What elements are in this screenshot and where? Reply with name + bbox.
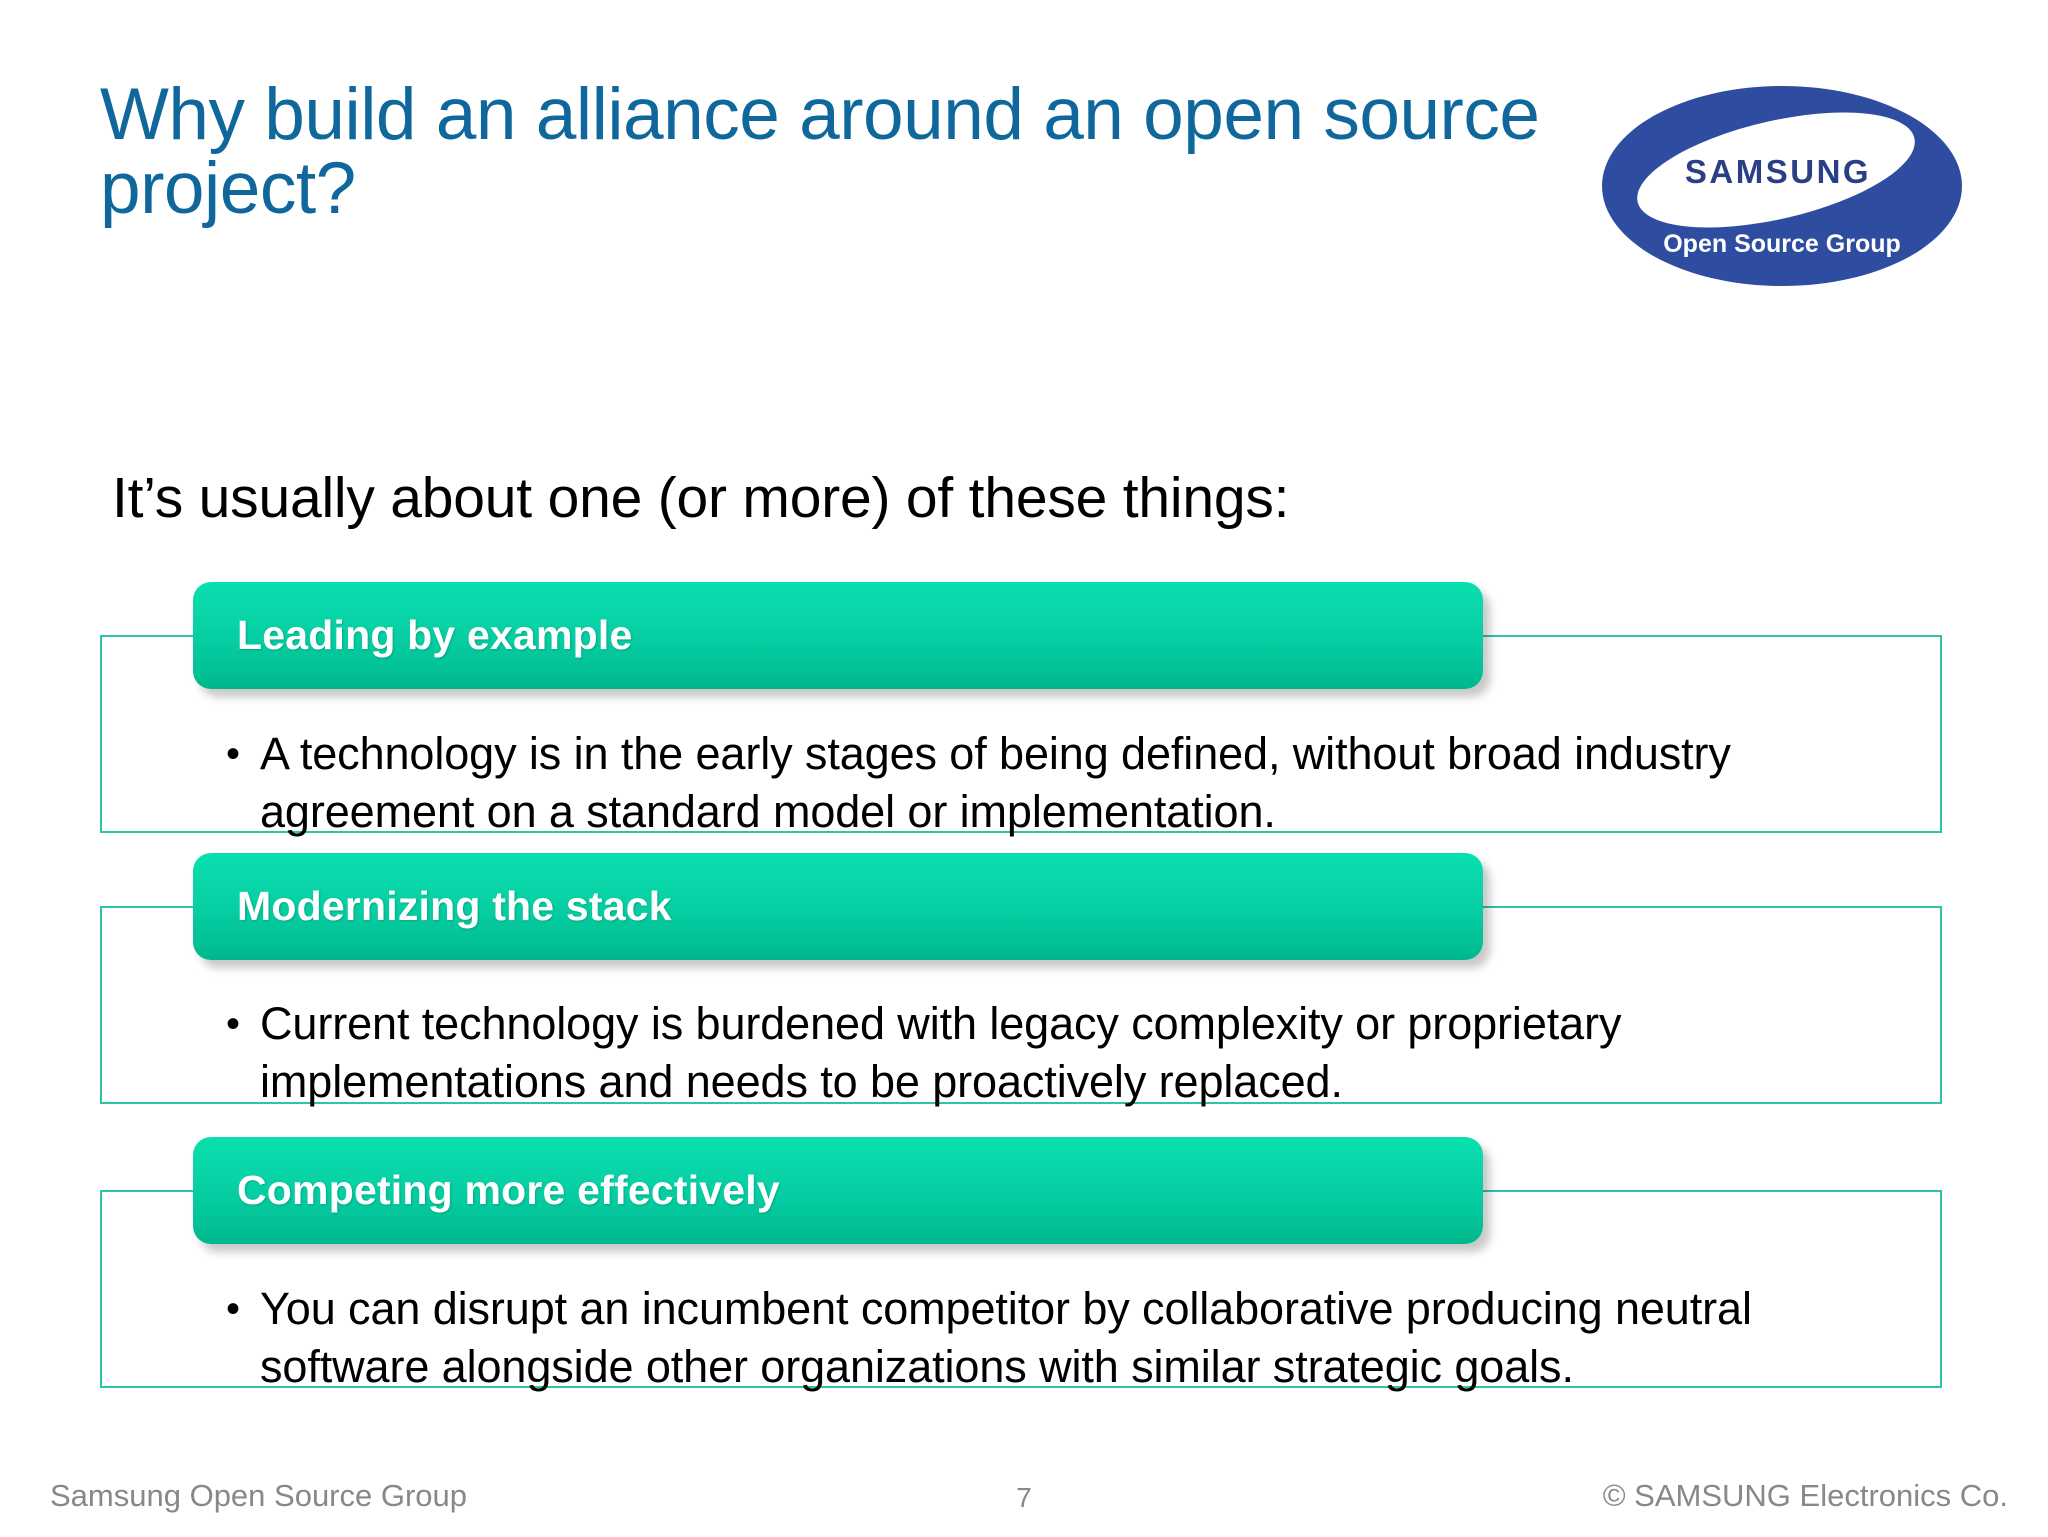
logo-tagline: Open Source Group — [1663, 230, 1901, 258]
category-banner-competing-more-effectively[interactable]: Competing more effectively — [193, 1137, 1483, 1244]
bullet-item-3: • You can disrupt an incumbent competito… — [226, 1280, 1886, 1396]
banner-label: Leading by example — [193, 612, 633, 659]
slide-canvas: Why build an alliance around an open sou… — [0, 0, 2048, 1537]
bullet-item-1: • A technology is in the early stages of… — [226, 725, 1886, 841]
banner-label: Competing more effectively — [193, 1167, 780, 1214]
bullet-marker-icon: • — [226, 995, 260, 1053]
bullet-item-2: • Current technology is burdened with le… — [226, 995, 1886, 1111]
category-banner-modernizing-the-stack[interactable]: Modernizing the stack — [193, 853, 1483, 960]
lead-in-text: It’s usually about one (or more) of thes… — [112, 465, 1289, 531]
logo-wordmark: SAMSUNG — [1685, 153, 1871, 190]
slide-footer: Samsung Open Source Group 7 © SAMSUNG El… — [0, 1478, 2048, 1528]
footer-copyright: © SAMSUNG Electronics Co. — [1603, 1478, 2008, 1514]
bullet-body-text: A technology is in the early stages of b… — [260, 725, 1886, 841]
bullet-marker-icon: • — [226, 725, 260, 783]
page-title: Why build an alliance around an open sou… — [100, 78, 1550, 227]
banner-label: Modernizing the stack — [193, 883, 672, 930]
category-banner-leading-by-example[interactable]: Leading by example — [193, 582, 1483, 689]
bullet-marker-icon: • — [226, 1280, 260, 1338]
bullet-body-text: You can disrupt an incumbent competitor … — [260, 1280, 1886, 1396]
samsung-open-source-group-logo: SAMSUNG Open Source Group — [1602, 84, 1962, 289]
bullet-body-text: Current technology is burdened with lega… — [260, 995, 1886, 1111]
